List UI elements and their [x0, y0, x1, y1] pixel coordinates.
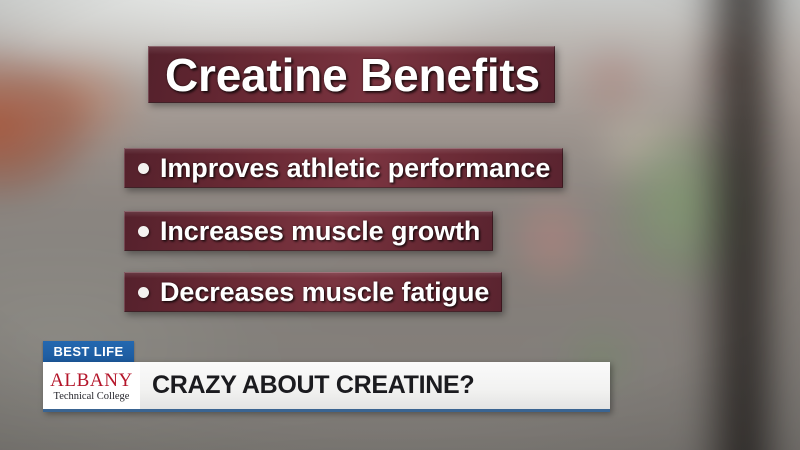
- story-headline: CRAZY ABOUT CREATINE?: [152, 373, 474, 398]
- benefit-banner-2: Increases muscle growth: [124, 211, 493, 251]
- headline-container: CRAZY ABOUT CREATINE?: [140, 362, 610, 409]
- benefit-label-1: Improves athletic performance: [160, 155, 550, 182]
- benefit-banner-1: Improves athletic performance: [124, 148, 563, 188]
- bullet-dot-icon: [138, 287, 149, 298]
- title-banner: Creatine Benefits: [148, 46, 555, 103]
- bullet-dot-icon: [138, 163, 149, 174]
- sponsor-logo-tagline: Technical College: [54, 391, 130, 403]
- sponsor-logo: ALBANY Technical College: [43, 362, 140, 409]
- benefit-label-3: Decreases muscle fatigue: [160, 279, 489, 306]
- page-title: Creatine Benefits: [165, 52, 540, 98]
- sponsor-logo-name: ALBANY: [50, 372, 133, 390]
- benefit-label-2: Increases muscle growth: [160, 218, 480, 245]
- benefit-banner-3: Decreases muscle fatigue: [124, 272, 502, 312]
- bullet-dot-icon: [138, 226, 149, 237]
- lower-third-bar: ALBANY Technical College CRAZY ABOUT CRE…: [43, 362, 610, 412]
- segment-kicker-label: BEST LIFE: [53, 345, 123, 358]
- broadcast-graphic-frame: Creatine Benefits Improves athletic perf…: [0, 0, 800, 450]
- segment-kicker-badge: BEST LIFE: [43, 341, 134, 362]
